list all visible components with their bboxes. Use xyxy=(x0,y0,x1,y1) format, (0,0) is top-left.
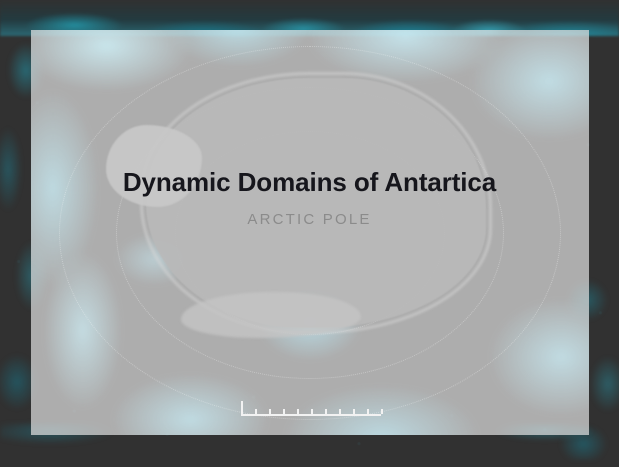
translucent-content-panel xyxy=(31,30,589,435)
scale-bar-tick xyxy=(339,409,341,414)
scale-bar-tick xyxy=(367,409,369,414)
scale-bar-tick xyxy=(353,409,355,414)
map-scale-bar xyxy=(241,400,381,416)
scale-bar-tick xyxy=(325,409,327,414)
scale-bar-tick xyxy=(381,409,383,414)
scale-bar-tick xyxy=(241,401,243,414)
slide-canvas: Dynamic Domains of Antartica ARCTIC POLE xyxy=(0,0,619,467)
page-subtitle: ARCTIC POLE xyxy=(0,211,619,228)
page-title: Dynamic Domains of Antartica xyxy=(0,168,619,197)
scale-bar-tick xyxy=(311,409,313,414)
scale-bar-tick xyxy=(297,409,299,414)
title-block: Dynamic Domains of Antartica ARCTIC POLE xyxy=(0,168,619,228)
scale-bar-tick xyxy=(269,409,271,414)
scale-bar-tick xyxy=(255,409,257,414)
scale-bar-tick xyxy=(283,409,285,414)
scale-bar-rule xyxy=(241,414,381,416)
